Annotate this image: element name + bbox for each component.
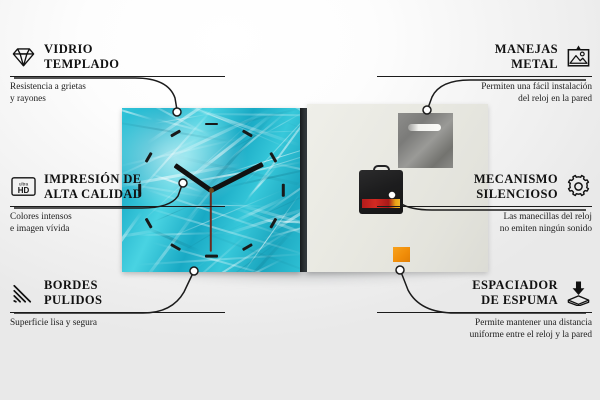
- feature-title: IMPRESIÓN DE ALTA CALIDAD: [44, 172, 142, 202]
- feature-divider: [10, 312, 225, 313]
- feature-divider: [10, 76, 225, 77]
- feature-description: Las manecillas del reloj no emiten ningú…: [377, 211, 592, 236]
- feature-title: MANEJAS METAL: [495, 42, 558, 72]
- svg-text:HD: HD: [18, 186, 30, 195]
- feature-description: Permiten una fácil instalación del reloj…: [377, 81, 592, 106]
- feature-divider: [377, 312, 592, 313]
- feature-header: MANEJAS METAL: [377, 42, 592, 72]
- clock-glass-edge: [300, 108, 307, 272]
- feature-header: VIDRIO TEMPLADO: [10, 42, 225, 72]
- feature-header: ultra HD IMPRESIÓN DE ALTA CALIDAD: [10, 172, 225, 202]
- foam-spacer-icon: [565, 279, 592, 306]
- feature-header: MECANISMO SILENCIOSO: [377, 172, 592, 202]
- feature-divider: [377, 76, 592, 77]
- ultra-hd-icon: ultra HD: [10, 173, 37, 200]
- feature-title: VIDRIO TEMPLADO: [44, 42, 119, 72]
- diamond-icon: [10, 43, 37, 70]
- feature-title: MECANISMO SILENCIOSO: [474, 172, 558, 202]
- feature-mecanismo-silencioso: MECANISMO SILENCIOSO Las manecillas del …: [377, 172, 592, 235]
- gear-icon: [565, 173, 592, 200]
- foam-spacer-pad: [393, 247, 410, 262]
- feature-description: Colores intensos e imagen vívida: [10, 211, 225, 236]
- hanger-keyhole-slot: [408, 124, 441, 131]
- feature-header: ESPACIADOR DE ESPUMA: [377, 278, 592, 308]
- feature-impresion-alta-calidad: ultra HD IMPRESIÓN DE ALTA CALIDAD Color…: [10, 172, 225, 235]
- feature-description: Permite mantener una distancia uniforme …: [377, 317, 592, 342]
- feature-title: ESPACIADOR DE ESPUMA: [472, 278, 558, 308]
- feature-bordes-pulidos: BORDES PULIDOS Superficie lisa y segura: [10, 278, 225, 329]
- polished-edges-icon: [10, 279, 37, 306]
- feature-divider: [377, 206, 592, 207]
- feature-vidrio-templado: VIDRIO TEMPLADO Resistencia a grietas y …: [10, 42, 225, 105]
- infographic-canvas: VIDRIO TEMPLADO Resistencia a grietas y …: [0, 0, 600, 400]
- feature-divider: [10, 206, 225, 207]
- feature-title: BORDES PULIDOS: [44, 278, 102, 308]
- feature-espaciador-espuma: ESPACIADOR DE ESPUMA Permite mantener un…: [377, 278, 592, 341]
- feature-description: Superficie lisa y segura: [10, 317, 225, 329]
- feature-manejas-metal: MANEJAS METAL Permiten una fácil instala…: [377, 42, 592, 105]
- feature-description: Resistencia a grietas y rayones: [10, 81, 225, 106]
- picture-hanger-icon: [565, 43, 592, 70]
- metal-hanger-plate: [398, 113, 453, 168]
- feature-header: BORDES PULIDOS: [10, 278, 225, 308]
